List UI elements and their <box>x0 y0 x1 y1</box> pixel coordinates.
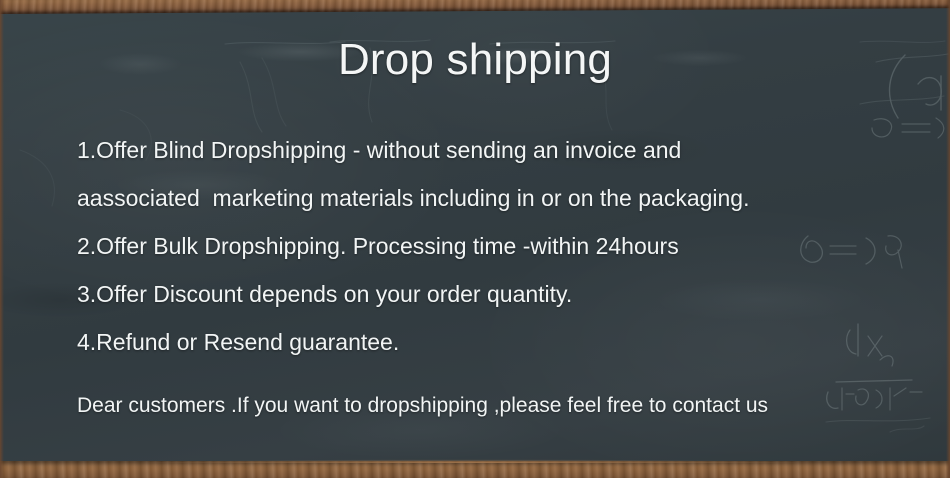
banner-content: Drop shipping 1.Offer Blind Dropshipping… <box>0 0 950 478</box>
policy-line: 3.Offer Discount depends on your order q… <box>77 270 937 318</box>
drop-shipping-banner: Drop shipping 1.Offer Blind Dropshipping… <box>0 0 950 478</box>
contact-note: Dear customers .If you want to dropshipp… <box>77 392 937 420</box>
policy-line: 2.Offer Bulk Dropshipping. Processing ti… <box>77 222 937 270</box>
policy-list: 1.Offer Blind Dropshipping - without sen… <box>77 126 937 366</box>
policy-line: 4.Refund or Resend guarantee. <box>77 318 937 366</box>
policy-line: aassociated marketing materials includin… <box>77 174 937 222</box>
policy-line: 1.Offer Blind Dropshipping - without sen… <box>77 126 937 174</box>
banner-title: Drop shipping <box>0 38 950 82</box>
